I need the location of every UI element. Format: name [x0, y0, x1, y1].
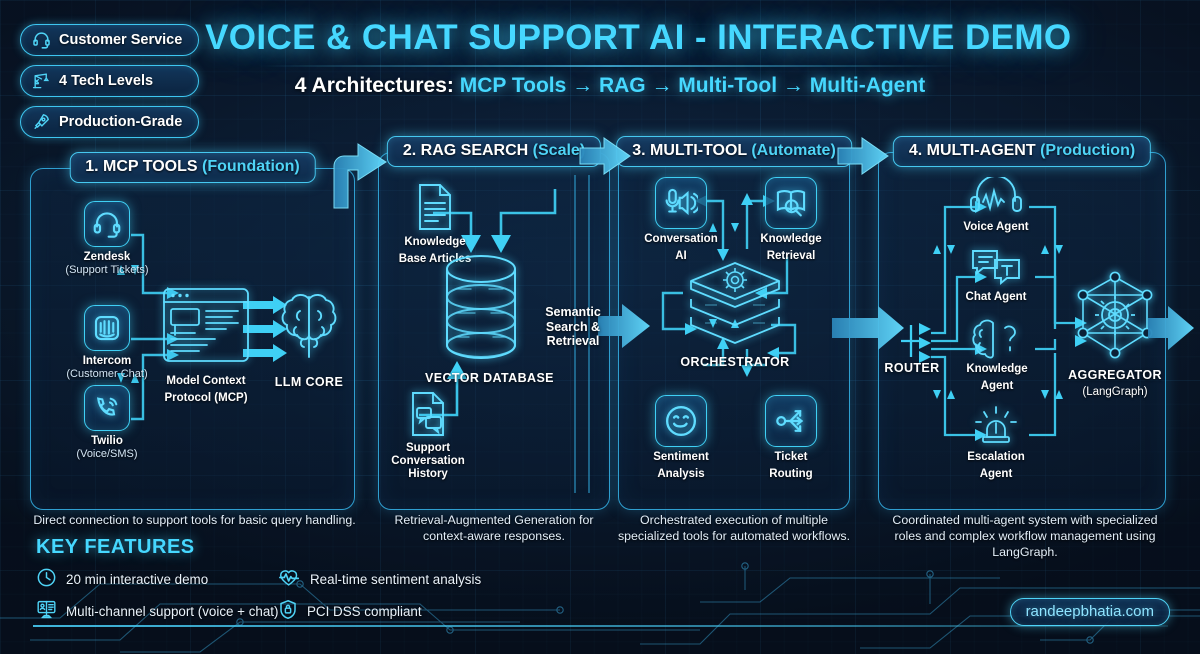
- heartbeat-icon: [278, 567, 301, 591]
- panel-caption-3: Orchestrated execution of multiple speci…: [612, 513, 856, 545]
- page-subtitle: 4 Architectures: MCP Tools → RAG → Multi…: [205, 74, 1015, 98]
- badge-label: Customer Service: [59, 32, 182, 48]
- node-label: AGGREGATOR: [1065, 368, 1165, 382]
- badge-list: Customer Service 4 Tech Levels Productio…: [20, 24, 199, 138]
- key-feature-multichannel: Multi-channel support (voice + chat): [36, 599, 279, 623]
- node-llm-core[interactable]: LLM CORE: [263, 287, 355, 389]
- alarm-light-icon: [973, 405, 1019, 447]
- brain-icon: [270, 287, 348, 367]
- badge-customer-service[interactable]: Customer Service: [20, 24, 199, 56]
- node-label: Zendesk: [57, 251, 157, 264]
- panel-title-4: 4. MULTI-AGENT (Production): [893, 136, 1151, 167]
- badge-label: 4 Tech Levels: [59, 73, 153, 89]
- node-twilio[interactable]: Twilio (Voice/SMS): [57, 385, 157, 461]
- node-label: Knowledge: [383, 236, 487, 249]
- node-label: Model Context: [151, 375, 261, 388]
- subtitle-prefix: 4 Architectures:: [295, 74, 460, 97]
- page-title: VOICE & CHAT SUPPORT AI - INTERACTIVE DE…: [205, 18, 1015, 58]
- headset-icon: [84, 201, 130, 247]
- key-features-title: KEY FEATURES: [36, 536, 195, 559]
- node-support-conversation-history[interactable]: Support ConversationHistory: [373, 391, 483, 482]
- panel-name: RAG SEARCH: [421, 142, 529, 159]
- page-header: VOICE & CHAT SUPPORT AI - INTERACTIVE DE…: [205, 18, 1015, 98]
- headset-icon: [32, 30, 51, 49]
- panel-index: 2.: [403, 142, 416, 159]
- code-window-icon: [162, 287, 250, 369]
- node-sublabel: (Support Tickets): [57, 264, 157, 277]
- key-feature-label: Real-time sentiment analysis: [310, 572, 481, 587]
- smiley-icon: [655, 395, 707, 447]
- subtitle-chain: MCP Tools → RAG → Multi-Tool → Multi-Age…: [460, 74, 925, 97]
- headset-waveform-icon: [965, 177, 1027, 217]
- node-label: ROUTER: [879, 361, 945, 375]
- panel-name: MULTI-AGENT: [927, 142, 1036, 159]
- panel-name: MCP TOOLS: [103, 158, 198, 175]
- node-sublabel: ConversationHistory: [383, 455, 473, 481]
- node-label: Ticket: [743, 451, 839, 464]
- panel-qualifier: (Scale): [533, 142, 585, 159]
- panel-index: 1.: [85, 158, 98, 175]
- node-ticket-routing[interactable]: Ticket Routing: [743, 395, 839, 481]
- node-router[interactable]: ROUTER: [879, 361, 945, 375]
- database-cylinder-icon: [433, 253, 529, 365]
- key-feature-pci: PCI DSS compliant: [278, 599, 422, 623]
- node-label: Support: [373, 442, 483, 455]
- node-zendesk[interactable]: Zendesk (Support Tickets): [57, 201, 157, 277]
- panel-mcp-tools[interactable]: 1. MCP TOOLS (Foundation): [30, 168, 355, 510]
- node-label: Knowledge: [743, 233, 839, 246]
- shield-lock-icon: [278, 599, 298, 623]
- node-aggregator[interactable]: AGGREGATOR (LangGraph): [1065, 271, 1165, 399]
- key-feature-label: 20 min interactive demo: [66, 572, 208, 587]
- node-label: Voice Agent: [957, 221, 1035, 234]
- node-label: Intercom: [57, 355, 157, 368]
- node-voice-agent[interactable]: Voice Agent: [957, 177, 1035, 234]
- node-sublabel: Agent: [957, 468, 1035, 481]
- rocket-icon: [32, 112, 51, 131]
- mic-speaker-icon: [655, 177, 707, 229]
- node-label: Twilio: [57, 435, 157, 448]
- node-sublabel: (Customer Chat): [57, 368, 157, 381]
- node-label: Chat Agent: [957, 291, 1035, 304]
- node-label: Escalation: [957, 451, 1035, 464]
- panel-caption-2: Retrieval-Augmented Generation for conte…: [380, 513, 608, 545]
- panel-index: 4.: [909, 142, 922, 159]
- node-label: Sentiment: [633, 451, 729, 464]
- node-sublabel: (Voice/SMS): [57, 448, 157, 461]
- panel-title-2: 2. RAG SEARCH (Scale): [387, 136, 601, 167]
- node-sublabel: Routing: [743, 468, 839, 481]
- node-conversation-ai[interactable]: Conversation AI: [633, 177, 729, 263]
- node-intercom[interactable]: Intercom (Customer Chat): [57, 305, 157, 381]
- node-escalation-agent[interactable]: Escalation Agent: [957, 405, 1035, 481]
- branch-routing-icon: [765, 395, 817, 447]
- panel-multi-agent[interactable]: 4. MULTI-AGENT (Production): [878, 152, 1166, 510]
- phone-signal-icon: [84, 385, 130, 431]
- semantic-search-label: Semantic Search & Retrieval: [542, 305, 604, 349]
- badge-label: Production-Grade: [59, 114, 182, 130]
- node-chat-agent[interactable]: Chat Agent: [957, 247, 1035, 304]
- key-feature-sentiment: Real-time sentiment analysis: [278, 567, 481, 591]
- site-badge[interactable]: randeepbhatia.com: [1010, 598, 1170, 626]
- document-lines-icon: [416, 183, 454, 231]
- key-feature-demo: 20 min interactive demo: [36, 567, 208, 591]
- brain-question-icon: [969, 317, 1025, 359]
- node-knowledge-retrieval[interactable]: Knowledge Retrieval: [743, 177, 839, 263]
- key-feature-label: PCI DSS compliant: [307, 604, 422, 619]
- badge-production-grade[interactable]: Production-Grade: [20, 106, 199, 138]
- header-divider: [260, 65, 960, 67]
- stacked-gear-icon: [683, 259, 787, 351]
- node-label: ORCHESTRATOR: [679, 355, 791, 369]
- intercom-icon: [84, 305, 130, 351]
- panel-qualifier: (Automate): [751, 142, 835, 159]
- node-label: Knowledge: [955, 363, 1039, 376]
- node-label: Conversation: [633, 233, 729, 246]
- footer-divider: [33, 625, 1168, 627]
- node-sublabel: Protocol (MCP): [151, 392, 261, 405]
- node-sentiment-analysis[interactable]: Sentiment Analysis: [633, 395, 729, 481]
- panel-caption-1: Direct connection to support tools for b…: [22, 513, 367, 529]
- panel-caption-4: Coordinated multi-agent system with spec…: [880, 513, 1170, 561]
- node-orchestrator[interactable]: ORCHESTRATOR: [679, 259, 791, 369]
- document-chat-icon: [409, 391, 447, 437]
- panel-multi-tool[interactable]: 3. MULTI-TOOL (Automate): [618, 152, 850, 510]
- book-search-icon: [765, 177, 817, 229]
- node-sublabel: Analysis: [633, 468, 729, 481]
- node-knowledge-agent[interactable]: Knowledge Agent: [955, 317, 1039, 393]
- node-sublabel: (LangGraph): [1065, 386, 1165, 399]
- node-model-context-protocol[interactable]: Model Context Protocol (MCP): [151, 287, 261, 405]
- node-label: LLM CORE: [263, 375, 355, 389]
- crane-icon: [32, 71, 51, 90]
- panel-qualifier: (Production): [1040, 142, 1135, 159]
- clock-icon: [36, 567, 57, 591]
- key-feature-label: Multi-channel support (voice + chat): [66, 604, 279, 619]
- panel-qualifier: (Foundation): [202, 158, 300, 175]
- panel-title-3: 3. MULTI-TOOL (Automate): [616, 136, 852, 167]
- node-vector-database[interactable]: VECTOR DATABASE: [425, 253, 537, 385]
- node-label: VECTOR DATABASE: [425, 371, 537, 385]
- panel-name: MULTI-TOOL: [650, 142, 747, 159]
- panel-index: 3.: [632, 142, 645, 159]
- badge-tech-levels[interactable]: 4 Tech Levels: [20, 65, 199, 97]
- chat-bubbles-icon: [969, 247, 1023, 287]
- panel-title-1: 1. MCP TOOLS (Foundation): [69, 152, 316, 183]
- multichannel-icon: [36, 599, 57, 623]
- graph-network-icon: [1069, 271, 1161, 363]
- node-sublabel: Agent: [955, 380, 1039, 393]
